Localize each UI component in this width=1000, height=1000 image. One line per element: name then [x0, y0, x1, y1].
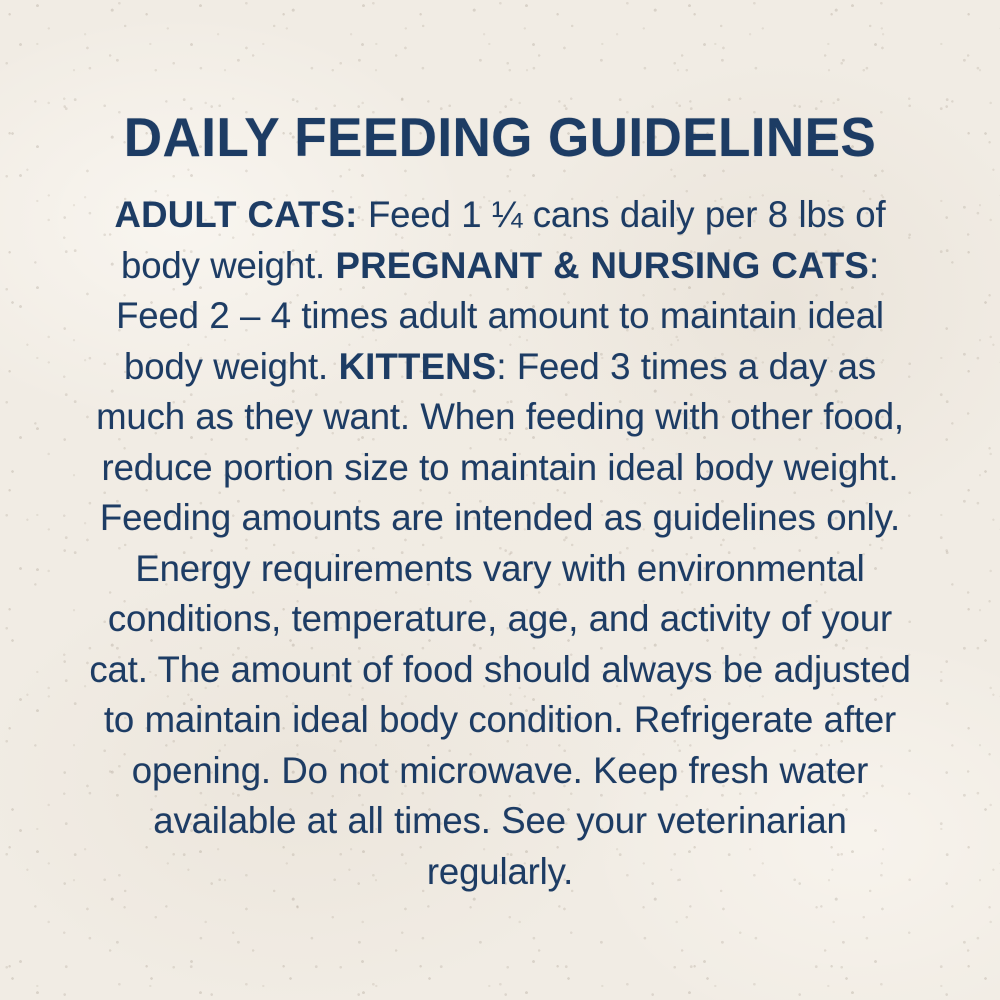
page-title: DAILY FEEDING GUIDELINES	[85, 0, 915, 166]
kittens-header: KITTENS	[339, 345, 497, 387]
feeding-guidelines-label: DAILY FEEDING GUIDELINES ADULT CATS: Fee…	[0, 0, 1000, 1000]
adult-cats-header: ADULT CATS:	[115, 193, 358, 235]
pregnant-nursing-cats-header: PREGNANT & NURSING CATS	[336, 244, 869, 286]
label-content: DAILY FEEDING GUIDELINES ADULT CATS: Fee…	[0, 0, 1000, 896]
feeding-instructions-paragraph: ADULT CATS: Feed 1 ¼ cans daily per 8 lb…	[81, 166, 920, 896]
kittens-body: : Feed 3 times a day as much as they wan…	[89, 345, 910, 892]
